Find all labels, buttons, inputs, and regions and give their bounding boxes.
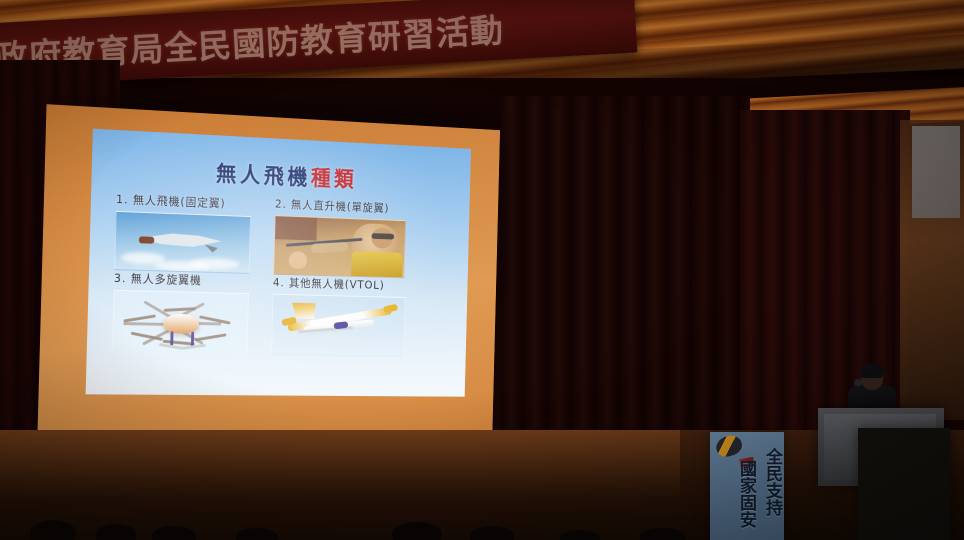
slide-item-2: 2. 無人直升機(單旋翼) — [273, 196, 406, 278]
audience-head — [236, 528, 278, 540]
projection-screen: 無人飛機種類 1. 無人飛機(固定翼) 2. 無人直升機(單旋翼) — [37, 104, 500, 434]
audience-head — [392, 522, 442, 540]
fixed-wing-uav-photo — [114, 211, 251, 274]
stage-curtain-center — [500, 96, 750, 476]
audience-head — [560, 530, 600, 540]
speaker-glasses — [861, 374, 882, 378]
standing-banner-column-left: 國家固安 — [728, 460, 754, 528]
slide-item-4: 4. 其他無人機(VTOL) — [271, 275, 406, 357]
floor-light-sheen — [0, 430, 680, 500]
slide-title-main: 無人飛機 — [216, 162, 311, 190]
audience-head — [470, 526, 514, 540]
audience-head — [30, 520, 76, 540]
slide-item-4-label: 4. 其他無人機(VTOL) — [273, 275, 406, 294]
slide-item-1: 1. 無人飛機(固定翼) — [114, 191, 251, 274]
slide-item-1-label: 1. 無人飛機(固定翼) — [116, 191, 252, 212]
slide-title-accent: 種類 — [311, 167, 358, 193]
slide-item-2-label: 2. 無人直升機(單旋翼) — [275, 196, 407, 217]
multirotor-drone-photo — [112, 290, 249, 355]
audience-head — [640, 528, 686, 540]
vtol-uav-photo — [271, 294, 406, 357]
helicopter-uav-photo — [273, 215, 406, 278]
doorway-light-panel — [912, 126, 960, 218]
poster-easel: 台中市政府教育局 113年全民國防教育 《認識無人機工作坊》 時間 課程內容 0… — [858, 428, 950, 540]
banner-emblem-icon — [714, 432, 745, 459]
standing-banner-column-right: 全民支持 — [754, 448, 780, 516]
audience-head — [152, 526, 196, 540]
slide-item-3: 3. 無人多旋翼機 — [112, 270, 250, 355]
slide-item-3-label: 3. 無人多旋翼機 — [114, 270, 250, 289]
auditorium-scene: 政府教育局全民國防教育研習活動 無人飛機種類 1. 無人飛機(固定翼) — [0, 0, 964, 540]
presentation-slide: 無人飛機種類 1. 無人飛機(固定翼) 2. 無人直升機(單旋翼) — [86, 129, 471, 397]
standing-banner: 全民支持 國家固安 — [710, 432, 784, 540]
audience-head — [96, 524, 136, 540]
